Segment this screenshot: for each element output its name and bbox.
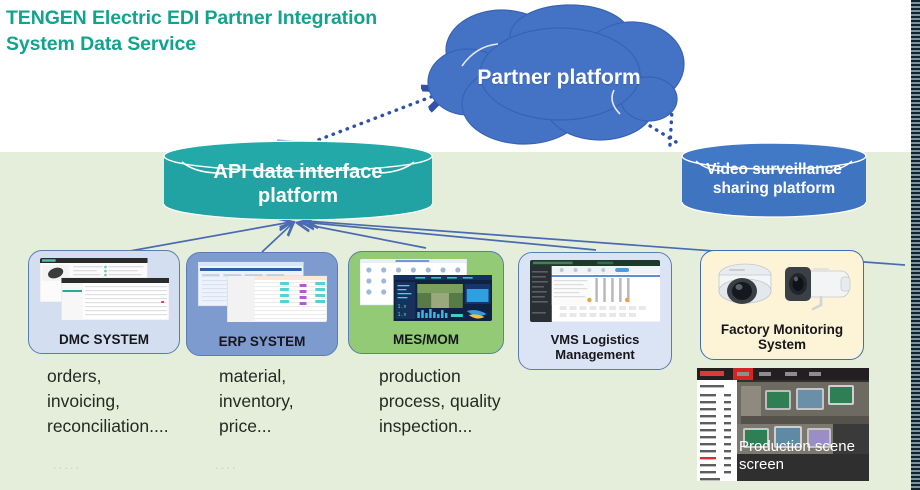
video-cylinder-label-line-1: Video surveillance (680, 161, 868, 180)
page-title: TENGEN Electric EDI Partner Integration … (6, 6, 396, 57)
production-scene-screen[interactable]: Production scene screen (697, 368, 869, 481)
system-card-vms-label: VMS Logistics Management (522, 333, 668, 363)
cloud-label: Partner platform (424, 66, 694, 90)
video-cylinder-label: Video surveillance sharing platform (680, 161, 868, 198)
system-card-dmc-label: DMC SYSTEM (32, 332, 176, 347)
svg-text:1.n: 1.n (397, 304, 406, 310)
right-edge-strip (911, 0, 920, 490)
diagram-canvas: TENGEN Electric EDI Partner Integration … (0, 0, 920, 490)
mes-screenshot-thumbnail: 1.n 1.n (360, 259, 492, 321)
security-camera-icon (709, 257, 857, 315)
system-card-mes[interactable]: 1.n 1.n MES/MOM (348, 251, 504, 354)
factory-monitoring-label-line-1: Factory Monitoring (701, 322, 863, 338)
production-scene-label: Production scene screen (739, 438, 865, 476)
video-cylinder-label-line-2: sharing platform (680, 180, 868, 199)
production-scene-label-line-2: screen (739, 456, 865, 475)
factory-monitoring-label: Factory Monitoring System (701, 322, 863, 353)
system-card-vms-label-line-2: Management (522, 348, 668, 363)
system-card-mes-label: MES/MOM (352, 332, 500, 347)
api-data-interface-platform[interactable]: API data interface platform (162, 140, 434, 220)
dmc-screenshot-thumbnail (40, 258, 169, 320)
erp-screenshot-thumbnail (198, 260, 327, 322)
svg-text:1.n: 1.n (397, 312, 406, 318)
description-erp: material, inventory, price... (219, 364, 344, 439)
ornament-dots-left: ..... (53, 457, 81, 472)
system-card-dmc[interactable]: DMC SYSTEM (28, 250, 180, 354)
api-cylinder-label-line-1: API data interface (162, 160, 434, 184)
description-mes: production process, quality inspection..… (379, 364, 511, 439)
video-surveillance-sharing-platform[interactable]: Video surveillance sharing platform (680, 142, 868, 218)
factory-monitoring-system-card[interactable]: Factory Monitoring System (700, 250, 864, 360)
page-title-line-1: TENGEN Electric EDI Partner Integration (6, 6, 396, 32)
system-card-vms-label-line-1: VMS Logistics (522, 333, 668, 348)
api-cylinder-label: API data interface platform (162, 160, 434, 208)
vms-screenshot-thumbnail (530, 260, 661, 322)
system-card-vms[interactable]: VMS Logistics Management (518, 252, 672, 370)
partner-platform-cloud[interactable]: Partner platform (424, 4, 694, 159)
page-title-line-2: System Data Service (6, 32, 396, 58)
factory-monitoring-label-line-2: System (701, 337, 863, 353)
production-scene-label-line-1: Production scene (739, 438, 865, 457)
ornament-dots-right: .... (215, 457, 237, 472)
description-dmc: orders, invoicing, reconciliation.... (47, 364, 167, 439)
api-cylinder-label-line-2: platform (162, 184, 434, 208)
system-card-erp-label: ERP SYSTEM (190, 334, 334, 349)
system-card-erp[interactable]: ERP SYSTEM (186, 252, 338, 356)
